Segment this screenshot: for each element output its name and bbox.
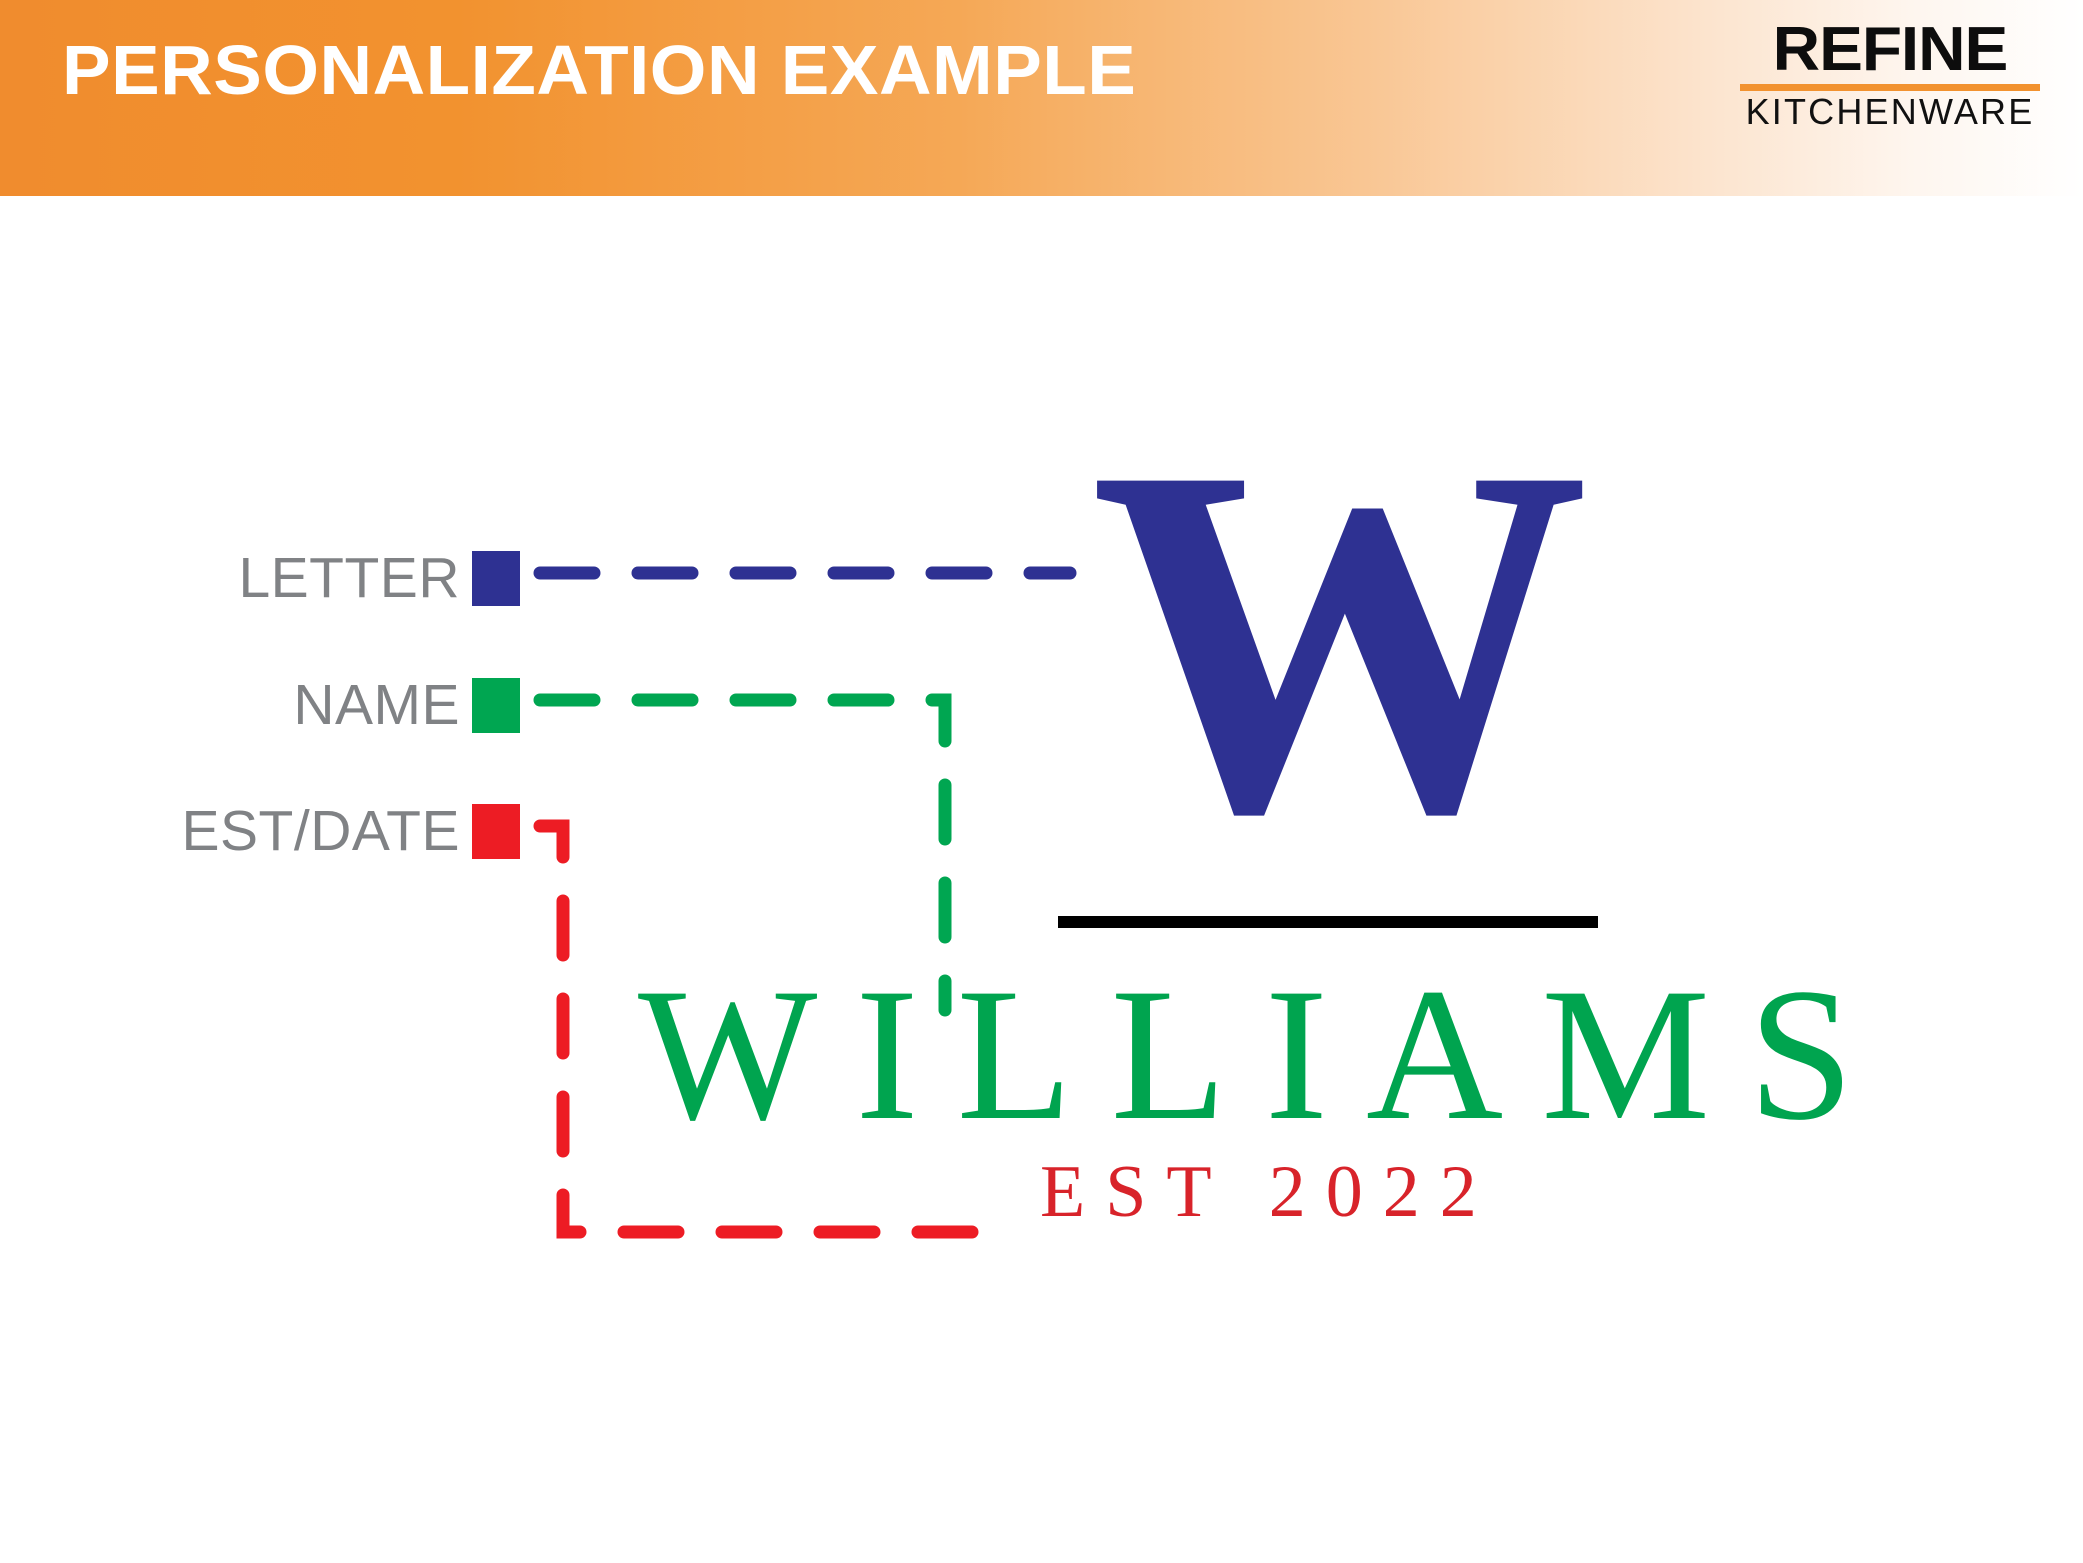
monogram-divider-rule (1058, 916, 1598, 928)
legend-label-est-date: EST/DATE (182, 798, 460, 864)
legend-item-letter[interactable]: LETTER (60, 545, 520, 611)
monogram-family-name: WILLIAMS (600, 960, 2020, 1150)
legend-label-letter: LETTER (238, 545, 460, 611)
brand-logo: REFINE KITCHENWARE (1740, 20, 2040, 131)
legend-item-est-date[interactable]: EST/DATE (60, 798, 520, 864)
monogram-initial-letter: W (1040, 410, 1640, 870)
brand-divider-rule (1740, 84, 2040, 91)
letter-swatch (472, 551, 520, 606)
brand-name-secondary: KITCHENWARE (1740, 93, 2040, 131)
brand-name-primary: REFINE (1731, 20, 2049, 81)
page-title: PERSONALIZATION EXAMPLE (62, 30, 1136, 110)
name-swatch (472, 678, 520, 733)
legend-label-name: NAME (293, 672, 460, 738)
monogram-est-date: EST 2022 (1020, 1155, 1660, 1229)
est-date-swatch (472, 804, 520, 859)
legend-item-name[interactable]: NAME (60, 672, 520, 738)
